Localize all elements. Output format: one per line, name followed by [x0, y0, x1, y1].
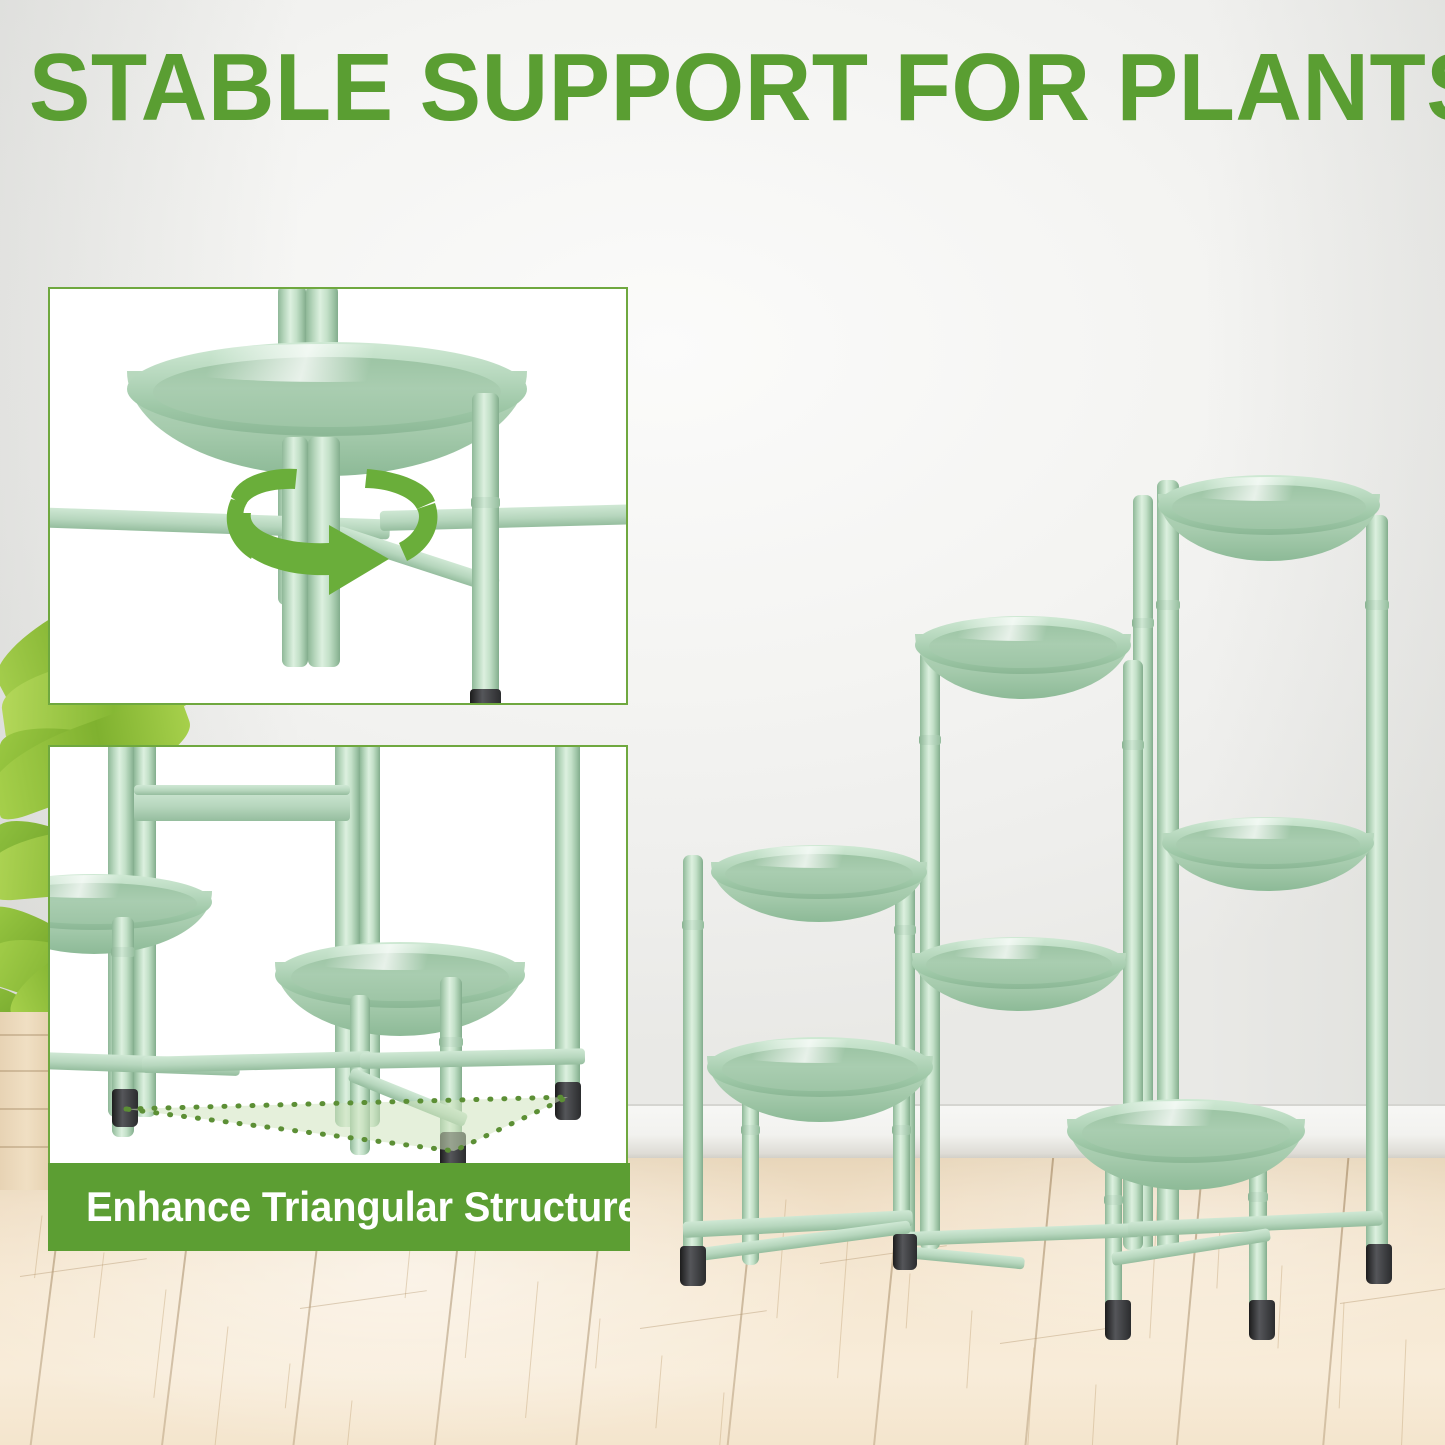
tray-gloss-highlight — [926, 617, 1120, 640]
tri-foot-front — [440, 1132, 466, 1165]
closeup-foot — [470, 689, 501, 705]
leg-joint — [1248, 1192, 1268, 1202]
inset-triangular-base — [48, 745, 628, 1165]
tri-left-tray-leg-joint — [111, 947, 135, 957]
tray-gloss-highlight — [722, 846, 916, 868]
leg-joint — [1104, 1195, 1123, 1205]
stand-post-left-front — [683, 855, 703, 1255]
leg-joint — [894, 925, 916, 935]
leg-joint — [919, 735, 941, 745]
wall-shadow-right — [1205, 0, 1445, 1160]
stand-foot-left-back — [893, 1234, 917, 1270]
closeup-front-leg — [472, 393, 499, 703]
product-feature-image: STABLE SUPPORT FOR PLANTS Enhance Triang… — [0, 0, 1445, 1445]
feature-banner: Enhance Triangular Structure — [48, 1163, 630, 1251]
top-tier-tray — [1158, 475, 1380, 561]
middle-tier-tray — [1162, 817, 1374, 891]
tray-gloss-highlight — [1079, 1101, 1293, 1127]
leg-joint — [892, 1125, 911, 1135]
tray-gloss-highlight — [1169, 477, 1369, 501]
leg-joint — [1122, 740, 1144, 750]
tri-center-tray — [275, 942, 525, 1036]
mid-low-shelf-tray — [912, 937, 1126, 1011]
tri-center-tray-leg-joint — [439, 1037, 463, 1047]
banner-label: Enhance Triangular Structure — [48, 1183, 630, 1231]
stand-foot-mid — [1105, 1300, 1131, 1340]
stand-foot-left-front — [680, 1246, 706, 1286]
leg-joint — [741, 1125, 760, 1135]
stand-foot-bottom-right — [1249, 1300, 1275, 1340]
tray-gloss-highlight — [288, 944, 513, 970]
tri-upper-shelf-lip — [134, 785, 350, 795]
leg-joint — [1156, 600, 1180, 610]
tray-gloss-highlight — [718, 1039, 921, 1063]
leg-joint — [682, 920, 704, 930]
leg-joint — [1132, 618, 1154, 628]
tray-gloss-highlight — [1173, 818, 1364, 839]
inset-rotating-tray — [48, 287, 628, 705]
tri-foot-left — [112, 1089, 138, 1127]
tri-base-rail-right — [360, 1048, 585, 1069]
upper-middle-tier-tray — [915, 616, 1131, 699]
tray-gloss-highlight — [147, 344, 507, 382]
leg-joint — [1365, 600, 1389, 610]
rotation-arrow-icon — [217, 467, 447, 617]
page-title: STABLE SUPPORT FOR PLANTS — [29, 38, 1416, 138]
low-left-tray — [707, 1037, 933, 1122]
lower-middle-tier-tray — [711, 845, 927, 922]
tri-foot-right — [555, 1082, 581, 1120]
stand-foot-right — [1366, 1244, 1392, 1284]
closeup-leg-joint — [471, 497, 500, 508]
tray-gloss-highlight — [923, 938, 1116, 959]
bottom-tier-tray — [1067, 1099, 1305, 1190]
